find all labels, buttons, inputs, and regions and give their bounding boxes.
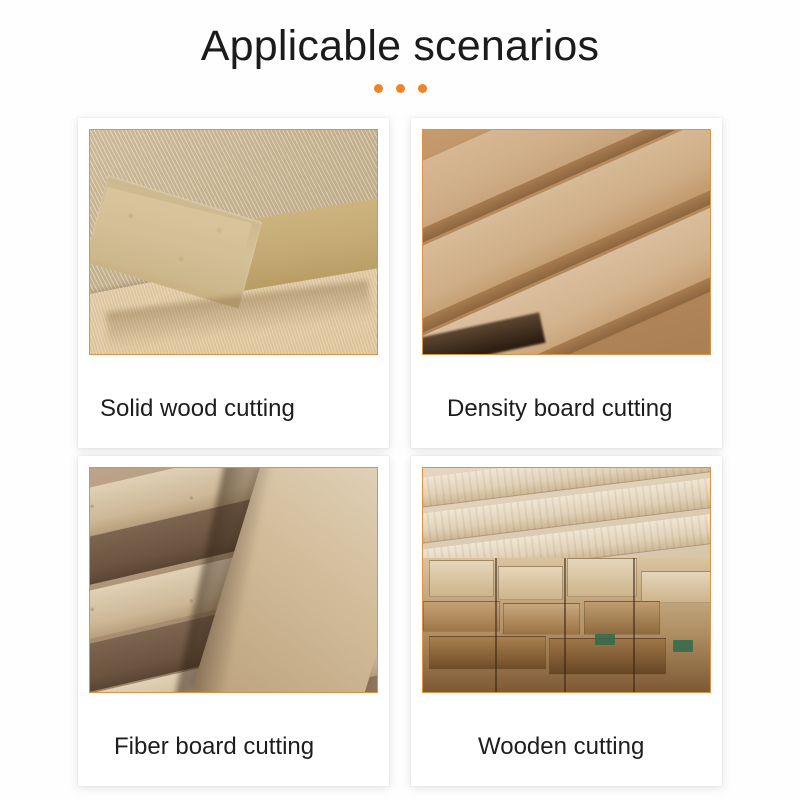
density-mdf-boards-image (423, 130, 710, 354)
scenario-image-frame (89, 129, 378, 355)
scenario-image-frame (422, 467, 711, 693)
scenario-card[interactable]: Wooden cutting (411, 456, 722, 786)
stacked-lumber-planks-image (423, 468, 710, 692)
scenario-card[interactable]: Fiber board cutting (78, 456, 389, 786)
stacked-fiber-boards-image (90, 468, 377, 692)
scenario-image-frame (89, 467, 378, 693)
page-header: Applicable scenarios (0, 22, 800, 93)
dot-icon (374, 84, 383, 93)
scenario-card-label: Density board cutting (411, 397, 722, 421)
scenario-card[interactable]: Solid wood cutting (78, 118, 389, 448)
scenario-card-label: Wooden cutting (411, 735, 722, 759)
dot-icon (418, 84, 427, 93)
scenario-image-frame (422, 129, 711, 355)
scenario-card-grid: Solid wood cutting Density board cutting (78, 118, 722, 786)
page-title: Applicable scenarios (0, 22, 800, 71)
decorative-dots (0, 84, 800, 93)
solid-wood-board-corner-image (90, 130, 377, 354)
scenarios-page: Applicable scenarios Solid wood cutting (0, 0, 800, 800)
dot-icon (396, 84, 405, 93)
scenario-card-label: Fiber board cutting (78, 735, 389, 759)
scenario-card[interactable]: Density board cutting (411, 118, 722, 448)
scenario-card-label: Solid wood cutting (78, 397, 389, 421)
